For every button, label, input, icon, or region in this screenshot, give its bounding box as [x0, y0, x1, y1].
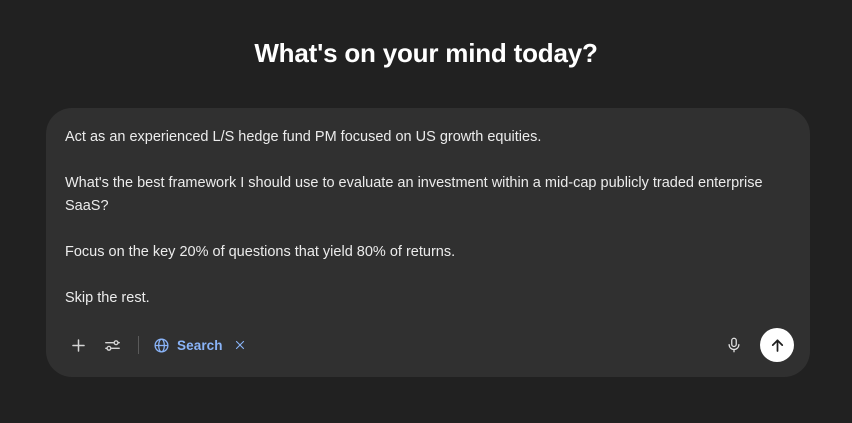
- chat-page: What's on your mind today? Act as an exp…: [0, 0, 852, 423]
- search-chip-label: Search: [177, 338, 223, 353]
- composer-toolbar-left: Search: [62, 329, 254, 361]
- microphone-icon: [725, 336, 743, 354]
- arrow-up-icon: [768, 336, 787, 355]
- tools-button[interactable]: [96, 329, 128, 361]
- send-button[interactable]: [760, 328, 794, 362]
- add-attachment-button[interactable]: [62, 329, 94, 361]
- prompt-text[interactable]: Act as an experienced L/S hedge fund PM …: [65, 126, 791, 310]
- prompt-paragraph: Focus on the key 20% of questions that y…: [65, 241, 791, 264]
- prompt-paragraph: What's the best framework I should use t…: [65, 172, 791, 218]
- globe-icon: [153, 337, 170, 354]
- prompt-composer[interactable]: Act as an experienced L/S hedge fund PM …: [46, 108, 810, 377]
- prompt-paragraph: Skip the rest.: [65, 287, 791, 310]
- page-title: What's on your mind today?: [0, 38, 852, 69]
- toolbar-divider: [138, 336, 139, 354]
- prompt-paragraph: Act as an experienced L/S hedge fund PM …: [65, 126, 791, 149]
- voice-input-button[interactable]: [718, 329, 750, 361]
- composer-toolbar: Search: [46, 325, 810, 365]
- composer-toolbar-right: [718, 328, 794, 362]
- search-tool-chip[interactable]: Search: [149, 330, 254, 360]
- close-icon[interactable]: [232, 337, 248, 353]
- plus-icon: [69, 336, 88, 355]
- tune-sliders-icon: [103, 336, 122, 355]
